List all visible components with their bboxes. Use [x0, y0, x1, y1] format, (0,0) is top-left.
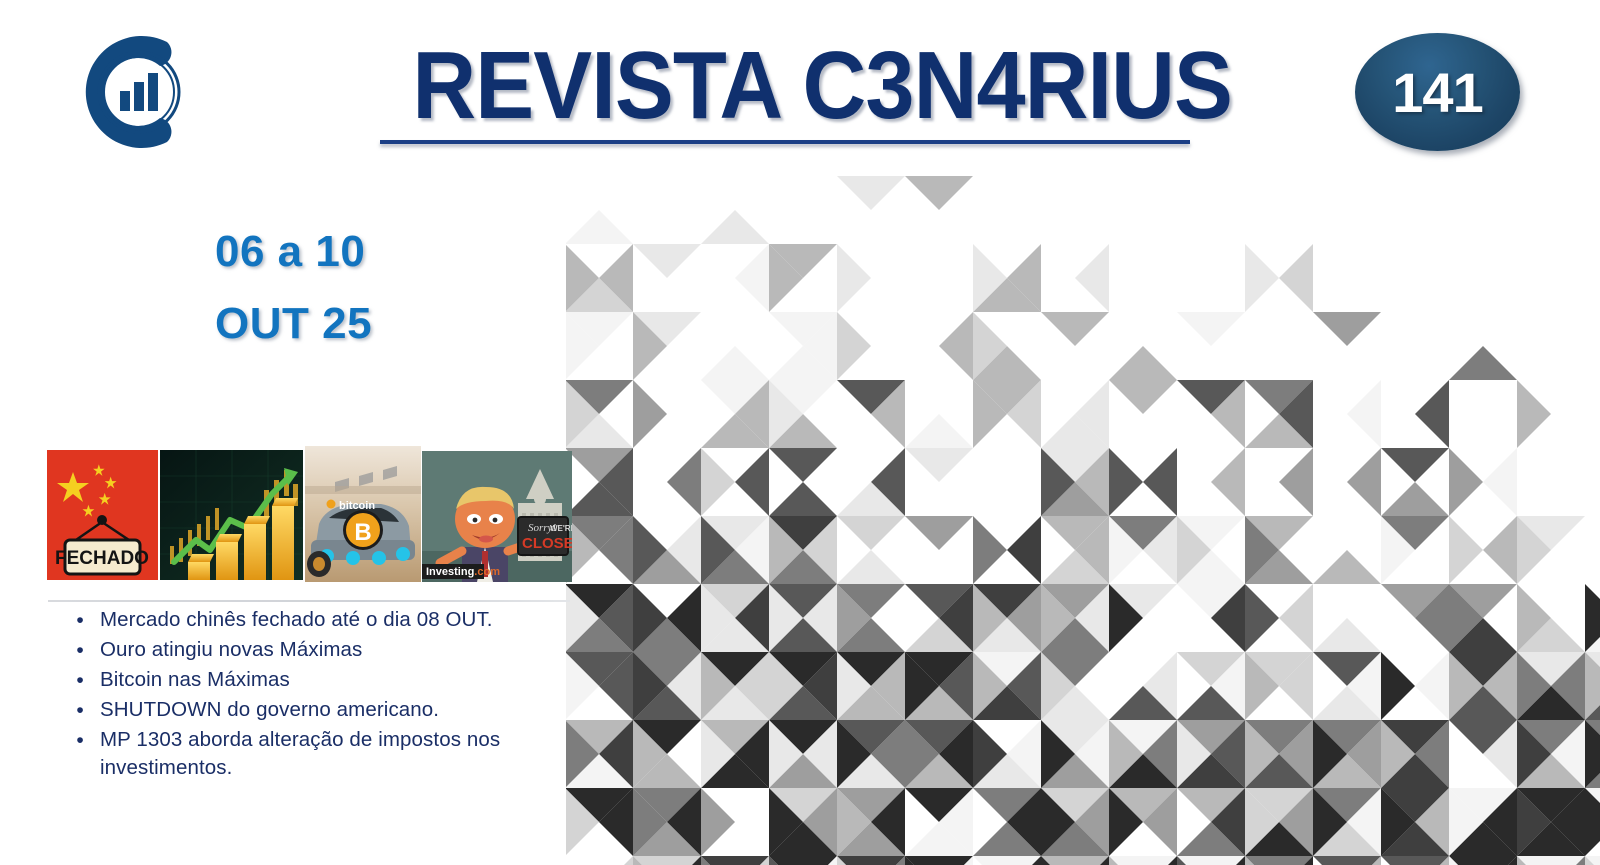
mosaic-triangle	[1483, 516, 1517, 584]
thumbnail-strip: FECHADO	[47, 450, 572, 582]
mosaic-triangle	[905, 176, 973, 210]
mosaic-triangle	[1041, 312, 1109, 346]
thumbnail-sign-text: FECHADO	[55, 548, 149, 569]
mosaic-triangle	[905, 414, 973, 448]
list-item: •Ouro atingiu novas Máximas	[60, 636, 560, 665]
shutdown-sign-line2: WE'RE	[550, 524, 572, 533]
mosaic-triangle	[905, 448, 973, 482]
bullet-marker-icon: •	[60, 696, 100, 725]
list-item-label: SHUTDOWN do governo americano.	[100, 696, 560, 724]
mosaic-triangle	[939, 312, 973, 380]
list-item: •SHUTDOWN do governo americano.	[60, 696, 560, 725]
mosaic-triangle	[1313, 550, 1381, 584]
mosaic-triangle	[1347, 380, 1381, 448]
mosaic-triangle	[1313, 856, 1381, 865]
bullet-marker-icon: •	[60, 636, 100, 665]
mosaic-triangle	[1449, 856, 1517, 865]
svg-text:B: B	[354, 519, 371, 546]
revista-logo-icon	[72, 28, 197, 156]
issue-number: 141	[1392, 60, 1482, 125]
mosaic-triangle	[599, 856, 633, 865]
mosaic-triangle	[735, 448, 769, 516]
mosaic-triangle	[1279, 584, 1313, 652]
mosaic-triangle	[973, 856, 1041, 865]
mosaic-triangle	[1041, 856, 1109, 865]
mosaic-triangle	[1109, 380, 1177, 414]
mosaic-triangle	[1381, 448, 1449, 482]
thumbnail-china-market-closed[interactable]: FECHADO	[47, 450, 158, 580]
mosaic-triangle	[1517, 856, 1585, 865]
list-item-label: Mercado chinês fechado até o dia 08 OUT.	[100, 606, 560, 634]
title-underline	[380, 140, 1190, 144]
mosaic-triangle	[1517, 380, 1551, 448]
issue-number-badge: 141	[1355, 33, 1520, 151]
thumbnail-us-government-shutdown[interactable]: Sorry! WE'RE CLOSED Investing.com	[422, 451, 572, 582]
content-divider	[48, 600, 570, 602]
mosaic-triangle	[837, 516, 905, 550]
page-title: REVISTA C3N4RIUS	[412, 38, 1157, 134]
date-range-month-year: OUT 25	[215, 288, 372, 360]
slide-canvas: REVISTA C3N4RIUS 141 06 a 10 OUT 25	[0, 0, 1600, 865]
mosaic-triangle	[1211, 448, 1245, 516]
mosaic-triangle	[837, 176, 905, 210]
list-item-label: Bitcoin nas Máximas	[100, 666, 560, 694]
mosaic-triangle	[1415, 652, 1449, 720]
mosaic-triangle	[735, 244, 769, 312]
mosaic-triangle	[1177, 856, 1245, 865]
page-title-block: REVISTA C3N4RIUS	[380, 38, 1190, 144]
mosaic-triangle	[1313, 312, 1381, 346]
mosaic-triangle	[973, 516, 1007, 584]
list-item: •MP 1303 aborda alteração de impostos no…	[60, 726, 560, 782]
list-item: •Mercado chinês fechado até o dia 08 OUT…	[60, 606, 560, 635]
mosaic-triangle	[1143, 448, 1177, 516]
mosaic-triangle	[701, 788, 735, 856]
mosaic-triangle	[1415, 380, 1449, 448]
mosaic-triangle	[837, 244, 871, 312]
thumbnail-gold-rising-bars[interactable]	[160, 450, 303, 580]
mosaic-triangle	[1177, 312, 1245, 346]
mosaic-triangle	[769, 482, 837, 516]
bullet-marker-icon: •	[60, 726, 100, 755]
mosaic-triangle	[1313, 618, 1381, 652]
bullet-marker-icon: •	[60, 666, 100, 695]
mosaic-triangle	[1347, 448, 1381, 516]
mosaic-triangle	[633, 856, 701, 865]
mosaic-triangle	[1245, 584, 1279, 652]
thumbnail-bitcoin-race-car[interactable]: B bitcoin	[305, 446, 421, 582]
mosaic-triangle	[837, 312, 871, 380]
mosaic-triangle	[1279, 448, 1313, 516]
mosaic-triangle	[905, 856, 973, 865]
mosaic-triangle	[769, 856, 837, 865]
list-item-label: Ouro atingiu novas Máximas	[100, 636, 560, 664]
thumbnail-watermark: Investing.com	[426, 566, 500, 578]
mosaic-triangle	[837, 550, 905, 584]
list-item: •Bitcoin nas Máximas	[60, 666, 560, 695]
bullet-marker-icon: •	[60, 606, 100, 635]
mosaic-triangle	[1449, 346, 1517, 380]
mosaic-triangle	[1449, 516, 1483, 584]
mosaic-triangle	[633, 380, 667, 448]
mosaic-triangle	[1483, 448, 1517, 516]
highlights-list: •Mercado chinês fechado até o dia 08 OUT…	[60, 606, 560, 783]
mosaic-triangle	[1109, 448, 1143, 516]
mosaic-triangle	[1449, 448, 1483, 516]
mosaic-triangle	[701, 210, 769, 244]
mosaic-triangle	[1381, 652, 1415, 720]
mosaic-triangle	[701, 856, 769, 865]
mosaic-triangle	[667, 448, 701, 516]
mosaic-triangle	[769, 448, 837, 482]
mosaic-triangle	[1381, 856, 1449, 865]
mosaic-triangle	[1007, 516, 1041, 584]
mosaic-triangle	[1245, 856, 1313, 865]
mosaic-triangle	[905, 516, 973, 550]
mosaic-triangle	[837, 856, 905, 865]
mosaic-triangle	[1279, 244, 1313, 312]
mosaic-triangle	[701, 448, 735, 516]
thumbnail-bitcoin-label: bitcoin	[339, 500, 375, 512]
mosaic-triangle	[1381, 482, 1449, 516]
list-item-label: MP 1303 aborda alteração de impostos nos…	[100, 726, 560, 782]
mosaic-triangle	[1075, 244, 1109, 312]
mosaic-triangle	[1109, 856, 1177, 865]
mosaic-triangle	[633, 244, 701, 278]
mosaic-triangle	[1109, 346, 1177, 380]
mosaic-triangle	[701, 346, 769, 380]
date-range-days: 06 a 10	[215, 216, 372, 288]
shutdown-sign-line3: CLOSED	[522, 535, 572, 552]
mosaic-triangle	[565, 210, 633, 244]
date-range-block: 06 a 10 OUT 25	[215, 216, 372, 360]
mosaic-triangle	[1245, 244, 1279, 312]
